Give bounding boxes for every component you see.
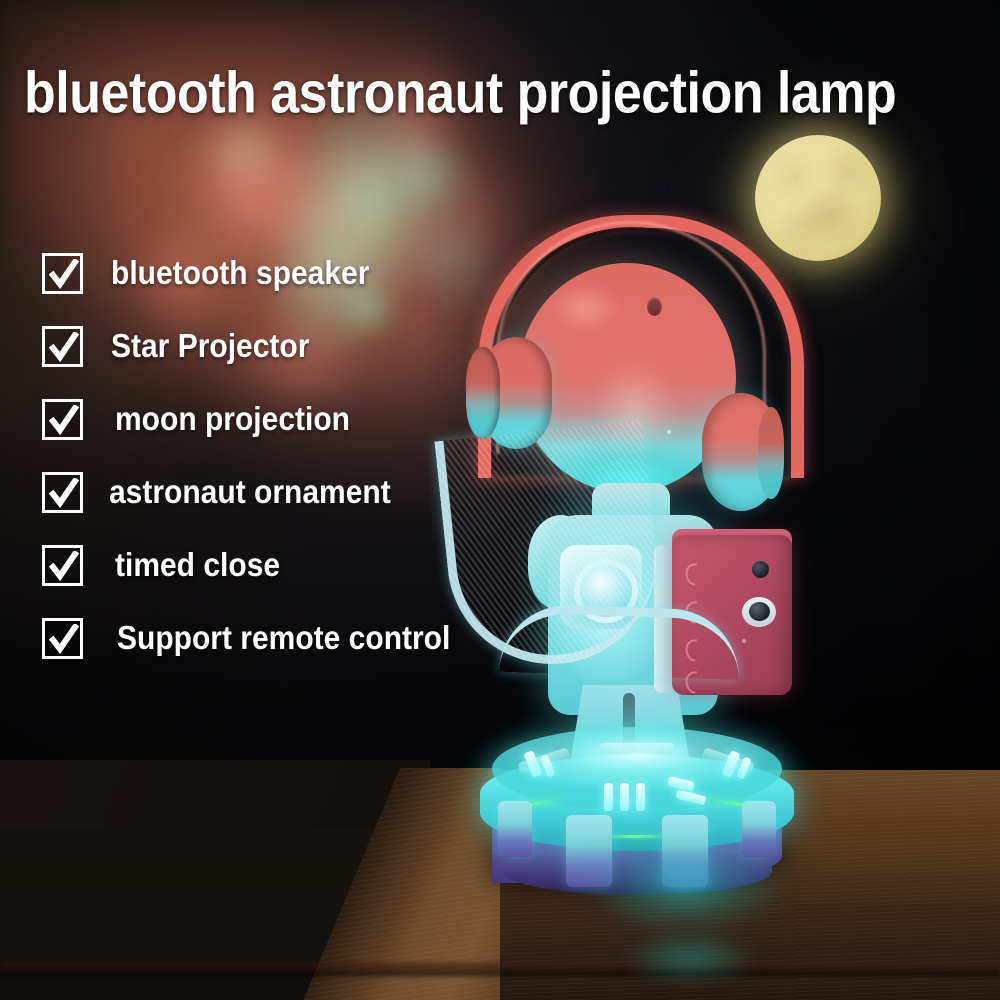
list-item[interactable]: astronaut ornament [42,471,450,514]
list-item[interactable]: moon projection [42,398,450,441]
base-light-slot [620,783,629,811]
table-light-reflection [600,930,780,1000]
list-item-label: moon projection [115,401,350,438]
product-poster: bluetooth astronaut projection lamp blue… [0,0,1000,1000]
base-leg [498,801,532,857]
helmet-vent-hole [647,297,662,316]
base-rib [600,743,674,754]
list-item[interactable]: Support remote control [42,617,450,660]
check-icon [49,478,79,510]
helmet-sparkle [667,430,671,434]
list-item[interactable]: Star Projector [42,325,450,368]
list-item-label: timed close [115,547,280,584]
list-item-label: bluetooth speaker [111,255,369,292]
check-icon [49,259,79,291]
checkbox-checked[interactable] [42,253,83,294]
headphone-earcup-left-outer [466,347,500,439]
checkbox-checked[interactable] [42,618,83,659]
feature-list: bluetooth speaker Star Projector moon pr… [42,252,450,660]
checkbox-checked[interactable] [42,545,83,586]
astronaut-lamp [440,215,840,895]
list-item[interactable]: timed close [42,544,450,587]
check-icon [49,624,79,656]
check-icon [49,551,79,583]
page-title: bluetooth astronaut projection lamp [24,62,944,125]
base-leg [742,801,776,857]
base-light-slot [636,783,645,811]
checkbox-checked[interactable] [42,472,83,513]
base-light-slot [604,783,613,811]
checkbox-checked[interactable] [42,399,83,440]
projector-mic-icon [742,639,746,643]
list-item-label: Support remote control [117,620,450,657]
projector-lens-icon [749,602,770,621]
list-item-label: astronaut ornament [109,474,391,511]
checkbox-checked[interactable] [42,326,83,367]
list-item[interactable]: bluetooth speaker [42,252,450,295]
projector-sensor-icon [752,561,769,578]
check-icon [49,405,79,437]
headphone-earcup-right-outer [758,407,784,499]
list-item-label: Star Projector [111,328,309,365]
helmet-highlight [550,285,620,331]
check-icon [49,332,79,364]
table-front-edge [0,962,1000,976]
